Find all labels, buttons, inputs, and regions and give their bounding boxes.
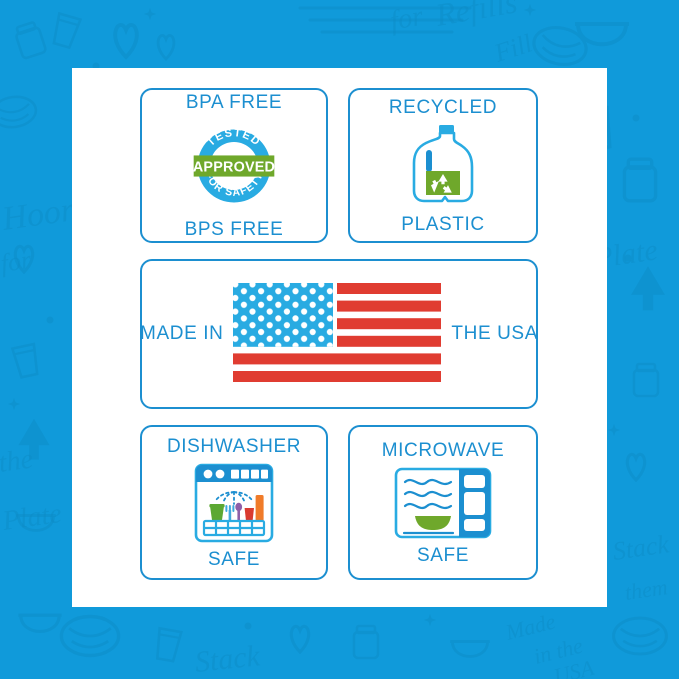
dishwasher-icon: [193, 462, 275, 544]
dishwasher-item-green-cup: [210, 506, 224, 520]
panel-microwave-safe: MICROWAVE: [348, 425, 538, 580]
microwave-label-bottom: SAFE: [417, 546, 469, 565]
usa-flag-icon: [231, 281, 443, 387]
svg-text:Stack: Stack: [611, 529, 671, 566]
tested-approved-for-safety-seal: TESTED FOR SAFETY APPROVED: [186, 118, 282, 214]
panel-bpa-free: BPA FREE TESTED FOR SAFETY: [140, 88, 328, 243]
dishwasher-item-green-cup-rim: [209, 504, 224, 507]
svg-text:for: for: [388, 1, 426, 37]
bpa-free-label-top: BPA FREE: [186, 93, 282, 112]
dishwasher-dial-1: [204, 469, 213, 478]
svg-text:Plate: Plate: [0, 498, 63, 537]
seal-banner-text: APPROVED: [193, 159, 275, 175]
svg-text:for: for: [0, 245, 34, 278]
infographic-root: Hooray for Re for Refills Fill Plate the…: [0, 0, 679, 679]
made-in-label: MADE IN: [140, 323, 223, 345]
recycled-plastic-label-bottom: PLASTIC: [401, 215, 484, 234]
svg-text:Stack: Stack: [193, 639, 262, 679]
dishwasher-label-bottom: SAFE: [208, 550, 260, 569]
the-usa-label: THE USA: [451, 323, 538, 345]
microwave-icon: [393, 466, 493, 540]
bpa-free-label-bottom: BPS FREE: [185, 220, 284, 239]
flag-canton-stars: [233, 283, 333, 347]
panel-recycled-plastic: RECYCLED: [348, 88, 538, 243]
flag-full-stripes: [233, 353, 441, 387]
dishwasher-item-orange-bottle: [256, 495, 264, 521]
dishwasher-label-top: DISHWASHER: [167, 437, 301, 456]
svg-text:Refills: Refills: [432, 0, 520, 33]
milk-jug-recycle-icon: [404, 123, 482, 209]
svg-text:the: the: [0, 443, 35, 478]
microwave-label-top: MICROWAVE: [382, 441, 505, 460]
microwave-buttons: [464, 475, 485, 531]
flag-short-stripes: [337, 283, 441, 347]
recycled-plastic-label-top: RECYCLED: [389, 98, 497, 117]
dishwasher-item-red-cup: [245, 508, 254, 521]
panel-dishwasher-safe: DISHWASHER: [140, 425, 328, 580]
white-card: BPA FREE TESTED FOR SAFETY: [72, 68, 607, 607]
svg-text:Fill: Fill: [490, 29, 536, 68]
svg-text:them: them: [623, 574, 669, 605]
dishwasher-dial-2: [216, 469, 225, 478]
panel-made-in-the-usa: MADE IN: [140, 259, 538, 409]
